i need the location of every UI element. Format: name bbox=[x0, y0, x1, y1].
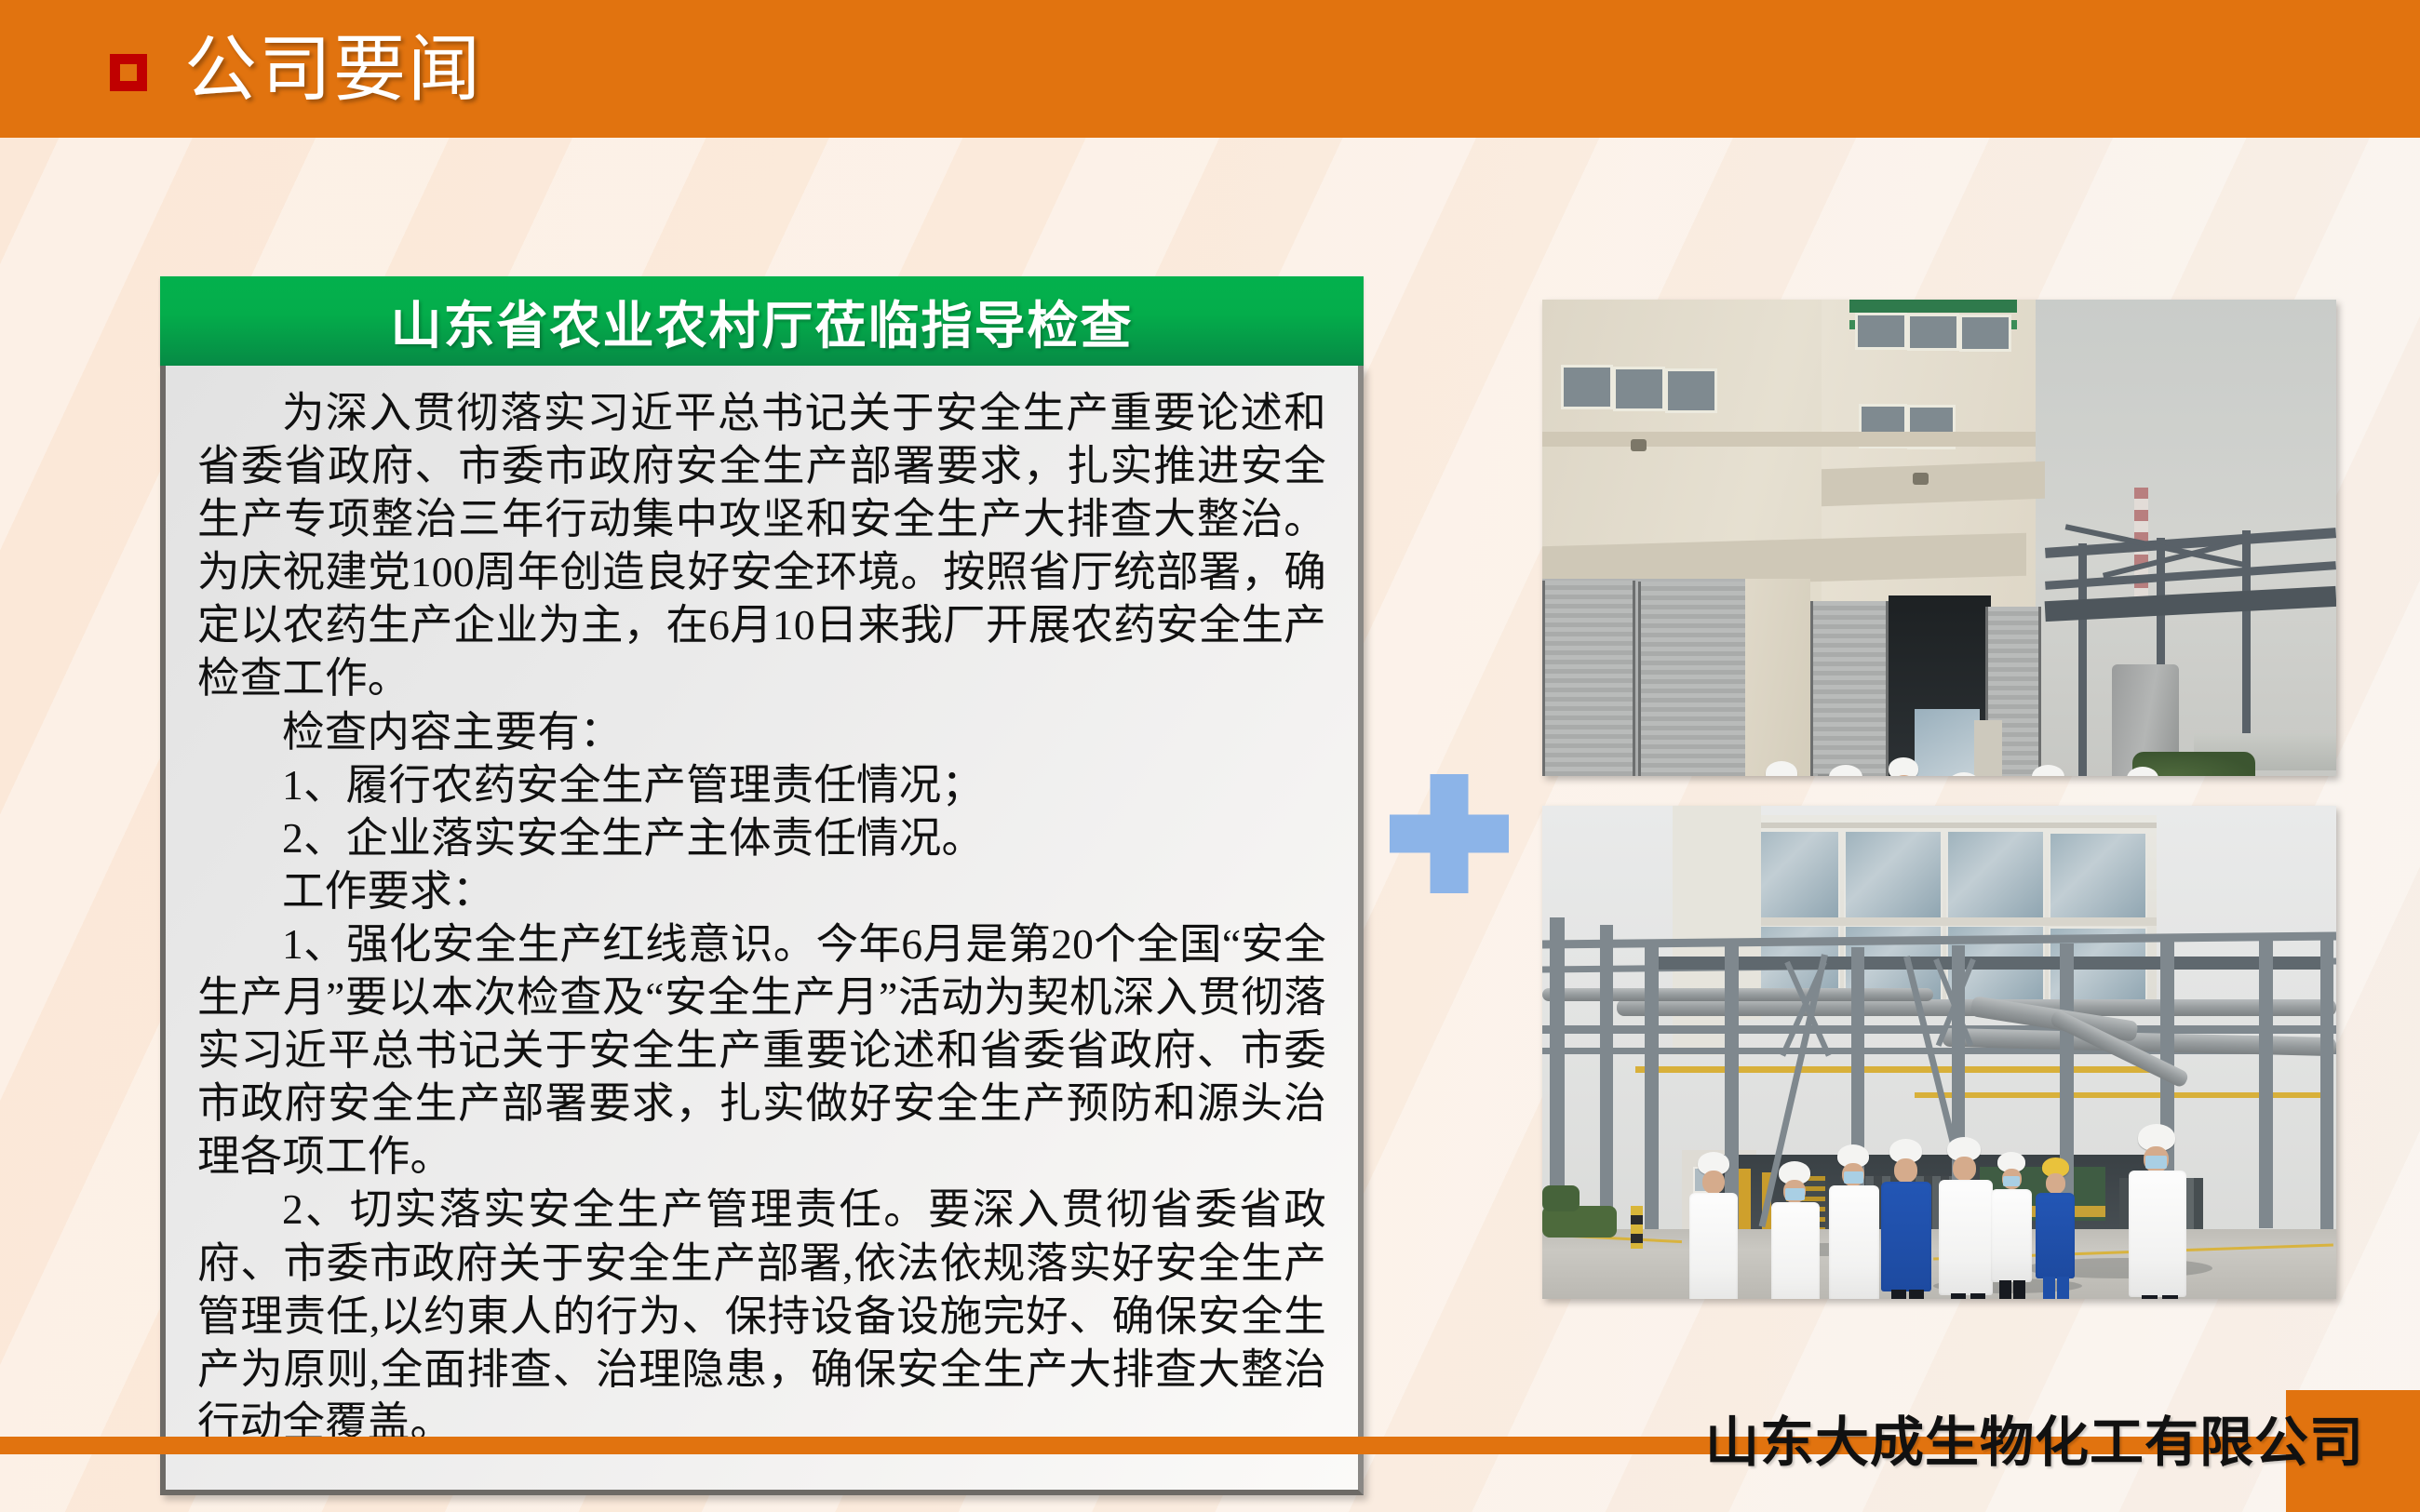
news-title: 山东省农业农村厅莅临指导检查 bbox=[390, 284, 1133, 358]
news-body: 为深入贯彻落实习近平总书记关于安全生产重要论述和省委省政府、市委市政府安全生产部… bbox=[160, 366, 1364, 1495]
news-paragraph: 2、企业落实安全生产主体责任情况。 bbox=[197, 811, 1326, 864]
footer-company-name: 山东大成生物化工有限公司 bbox=[1705, 1398, 2364, 1477]
header-bar: 公司要闻 bbox=[0, 0, 2420, 138]
page-title: 公司要闻 bbox=[184, 33, 482, 105]
red-square-bullet-icon bbox=[110, 54, 147, 91]
blue-plus-icon bbox=[1390, 774, 1509, 893]
news-paragraph: 检查内容主要有： bbox=[197, 705, 1326, 758]
news-paragraph: 1、强化安全生产红线意识。今年6月是第20个全国“安全生产月”要以本次检查及“安… bbox=[197, 917, 1326, 1183]
news-paragraph: 1、履行农药安全生产管理责任情况； bbox=[197, 758, 1326, 811]
slide-root: 公司要闻 山东省农业农村厅莅临指导检查 为深入贯彻落实习近平总书记关于安全生产重… bbox=[0, 0, 2420, 1512]
news-paragraph: 2、切实落实安全生产管理责任。要深入贯彻省委省政府、市委市政府关于安全生产部署,… bbox=[197, 1183, 1326, 1448]
news-title-bar: 山东省农业农村厅莅临指导检查 bbox=[160, 276, 1364, 366]
news-paragraph: 为深入贯彻落实习近平总书记关于安全生产重要论述和省委省政府、市委市政府安全生产部… bbox=[197, 386, 1326, 705]
news-paragraph: 工作要求： bbox=[197, 864, 1326, 917]
inspection-team-walking-photo bbox=[1542, 300, 2336, 776]
inspection-team-group-photo bbox=[1542, 806, 2336, 1299]
header-content: 公司要闻 bbox=[110, 0, 482, 138]
news-card: 山东省农业农村厅莅临指导检查 为深入贯彻落实习近平总书记关于安全生产重要论述和省… bbox=[160, 276, 1364, 1495]
